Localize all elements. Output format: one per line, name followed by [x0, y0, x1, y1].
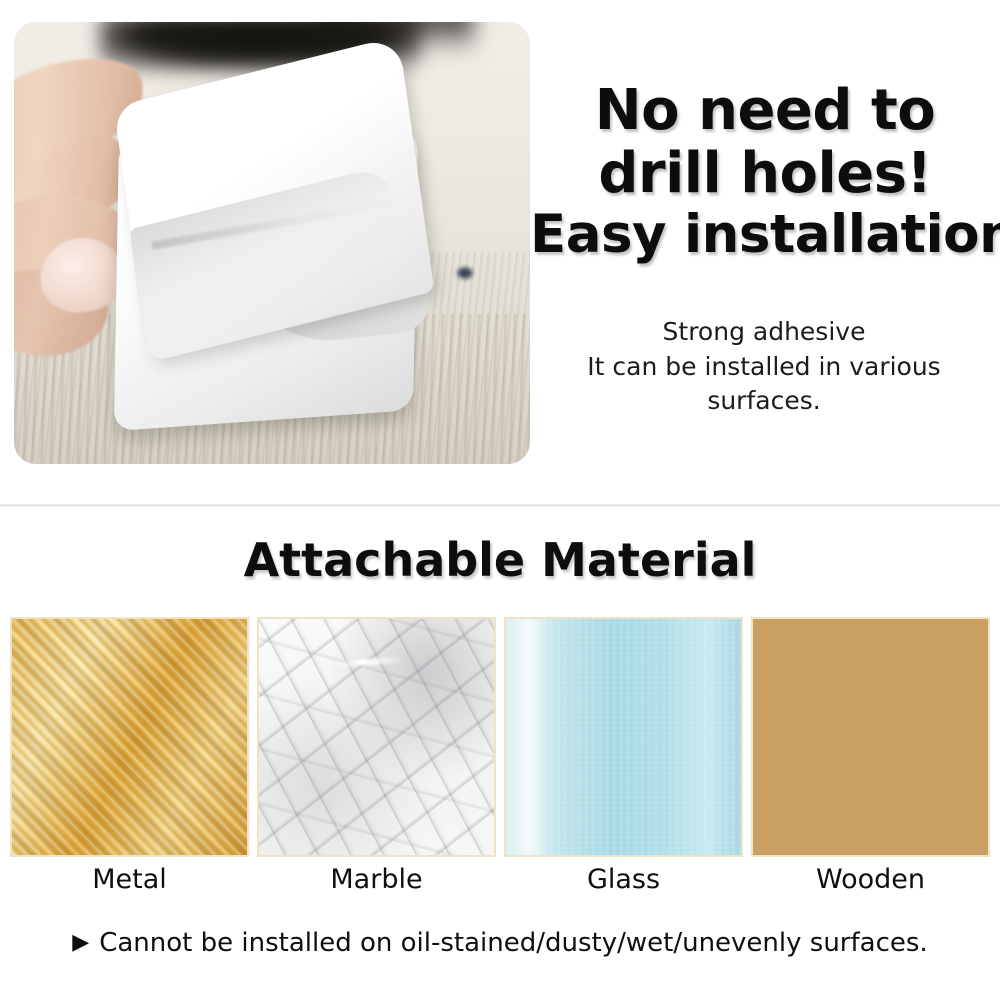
wood-texture	[753, 619, 988, 855]
material-label-metal: Metal	[10, 864, 249, 895]
headline-subtext: Strong adhesive It can be installed in v…	[528, 315, 1000, 419]
glass-sheen	[515, 619, 546, 855]
product-infographic-page: No need to drill holes! Easy installatio…	[0, 0, 1000, 1000]
top-section: No need to drill holes! Easy installatio…	[0, 0, 1000, 505]
triangle-bullet-icon: ▶	[72, 930, 89, 955]
material-swatch-metal	[10, 617, 249, 857]
material-label-wooden: Wooden	[751, 864, 990, 895]
material-label-marble: Marble	[257, 864, 496, 895]
warning-note: ▶Cannot be installed on oil-stained/dust…	[0, 928, 1000, 958]
subtext-line-3: surfaces.	[528, 384, 1000, 419]
subtext-line-1: Strong adhesive	[528, 315, 1000, 350]
section-divider	[0, 504, 1000, 507]
page-title: No need to drill holes! Easy installatio…	[530, 80, 1000, 265]
section-title: Attachable Material	[0, 533, 1000, 587]
warning-text: Cannot be installed on oil-stained/dusty…	[99, 928, 927, 958]
headline-line-1: No need to	[530, 80, 1000, 143]
material-swatch-wooden	[751, 617, 990, 857]
subtext-line-2: It can be installed in various	[528, 350, 1000, 385]
material-swatch-marble	[257, 617, 496, 857]
headline-line-2: drill holes!	[530, 143, 1000, 206]
marble-texture	[259, 619, 494, 855]
metal-texture	[12, 619, 247, 855]
product-photo	[14, 22, 530, 464]
headline-line-3: Easy installation	[530, 205, 1000, 264]
material-swatch-row	[10, 617, 990, 857]
photo-dark-object-edge	[314, 22, 474, 54]
material-label-glass: Glass	[504, 864, 743, 895]
material-swatch-glass	[504, 617, 743, 857]
adhesive-pad	[110, 74, 428, 426]
photo-surface-speck	[457, 267, 473, 279]
material-labels-row: Metal Marble Glass Wooden	[10, 864, 990, 895]
